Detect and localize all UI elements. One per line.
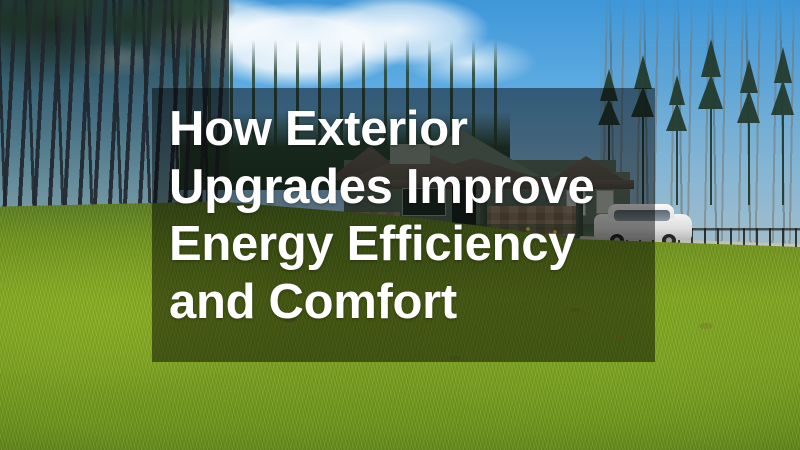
banner-image: How Exterior Upgrades Improve Energy Eff… <box>0 0 800 450</box>
page-title: How Exterior Upgrades Improve Energy Eff… <box>169 101 689 331</box>
